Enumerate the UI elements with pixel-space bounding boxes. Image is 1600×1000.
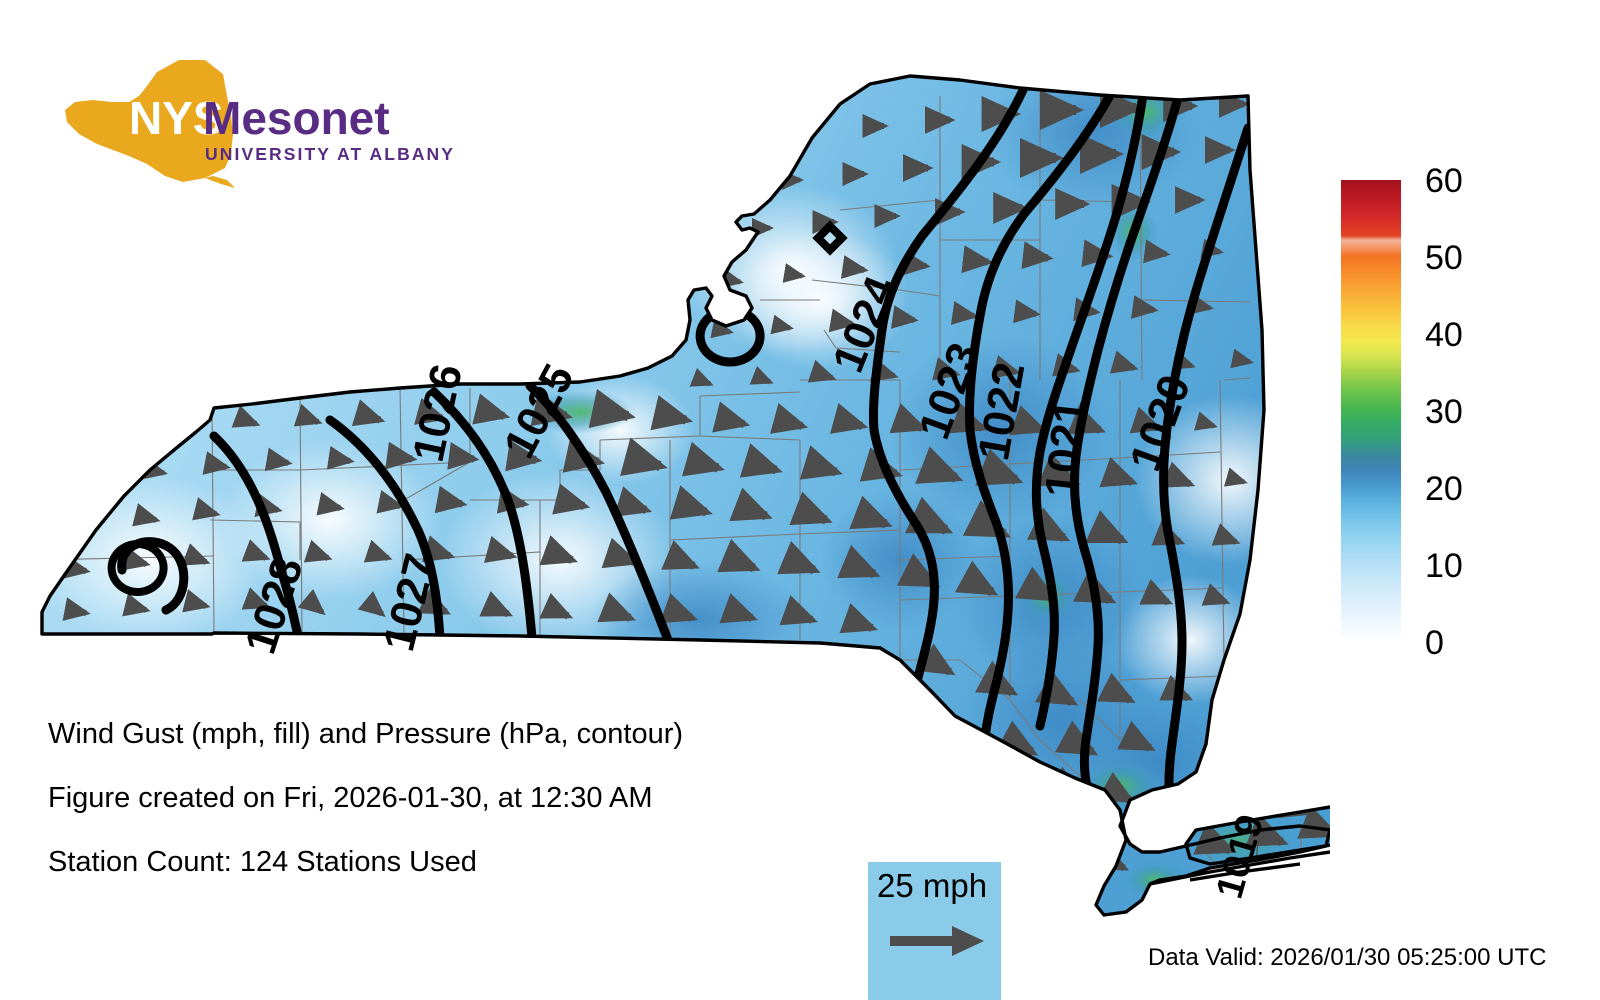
colorbar-tick-20: 20	[1425, 472, 1463, 506]
colorbar-tick-0: 0	[1425, 626, 1444, 660]
caption-station-count: Station Count: 124 Stations Used	[48, 846, 808, 879]
logo-subtitle: UNIVERSITY AT ALBANY	[205, 144, 455, 164]
figure-caption: Wind Gust (mph, fill) and Pressure (hPa,…	[48, 718, 808, 910]
nys-mesonet-logo: NYS Mesonet UNIVERSITY AT ALBANY	[55, 58, 455, 188]
data-valid-timestamp: Data Valid: 2026/01/30 05:25:00 UTC	[1148, 944, 1546, 972]
colorbar-tick-10: 10	[1425, 549, 1463, 583]
wind-vector-key: 25 mph	[868, 862, 1001, 1000]
wind-vector-key-arrow-icon	[890, 924, 986, 958]
colorbar-tick-30: 30	[1425, 395, 1463, 429]
contour-label: 1021	[1036, 397, 1095, 499]
caption-title: Wind Gust (mph, fill) and Pressure (hPa,…	[48, 718, 808, 751]
colorbar-tick-40: 40	[1425, 318, 1463, 352]
wind-vector-key-label: 25 mph	[877, 869, 987, 902]
colorbar-tick-50: 50	[1425, 241, 1463, 275]
logo-mesonet-text: Mesonet	[203, 92, 390, 144]
colorbar: 60 50 40 30 20 10 0	[1341, 180, 1591, 650]
colorbar-tick-60: 60	[1425, 164, 1463, 198]
caption-created: Figure created on Fri, 2026-01-30, at 12…	[48, 782, 808, 815]
colorbar-gradient	[1341, 180, 1401, 643]
